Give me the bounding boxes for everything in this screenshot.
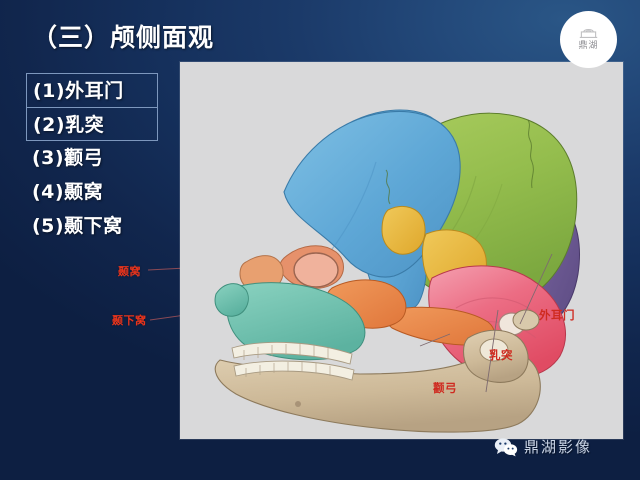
page-title: （三）颅侧面观 bbox=[32, 18, 214, 54]
watermark-badge: 鼎湖 bbox=[560, 11, 617, 68]
wechat-icon bbox=[494, 437, 518, 457]
anatomy-image-panel: 外耳门 乳突 颧弓 bbox=[180, 62, 623, 439]
ding-hu-logo-icon bbox=[579, 27, 598, 40]
callout-label-infratemporal-fossa: 颞下窝 bbox=[112, 312, 147, 328]
picture-label-external-acoustic-pore: 外耳门 bbox=[539, 307, 575, 323]
list-item-4[interactable]: (4)颞窝 bbox=[26, 175, 158, 209]
list-item-1[interactable]: (1)外耳门 bbox=[26, 73, 158, 107]
list-item-2[interactable]: (2)乳突 bbox=[26, 107, 158, 141]
watermark-text: 鼎湖 bbox=[578, 41, 598, 52]
wechat-credit: 鼎湖影像 bbox=[494, 436, 592, 457]
picture-label-zygomatic-arch: 颧弓 bbox=[433, 380, 457, 396]
slide-canvas: （三）颅侧面观 (1)外耳门 (2)乳突 (3)颧弓 (4)颞窝 (5)颞下窝 … bbox=[0, 0, 640, 480]
wechat-account-name: 鼎湖影像 bbox=[524, 436, 592, 457]
callout-label-temporal-fossa: 颞窝 bbox=[118, 263, 141, 279]
picture-label-mastoid-process: 乳突 bbox=[489, 347, 513, 363]
bullet-list: (1)外耳门 (2)乳突 (3)颧弓 (4)颞窝 (5)颞下窝 bbox=[26, 73, 158, 243]
list-item-5[interactable]: (5)颞下窝 bbox=[26, 209, 158, 243]
list-item-3[interactable]: (3)颧弓 bbox=[26, 141, 158, 175]
skull-lateral-illustration bbox=[180, 62, 623, 439]
